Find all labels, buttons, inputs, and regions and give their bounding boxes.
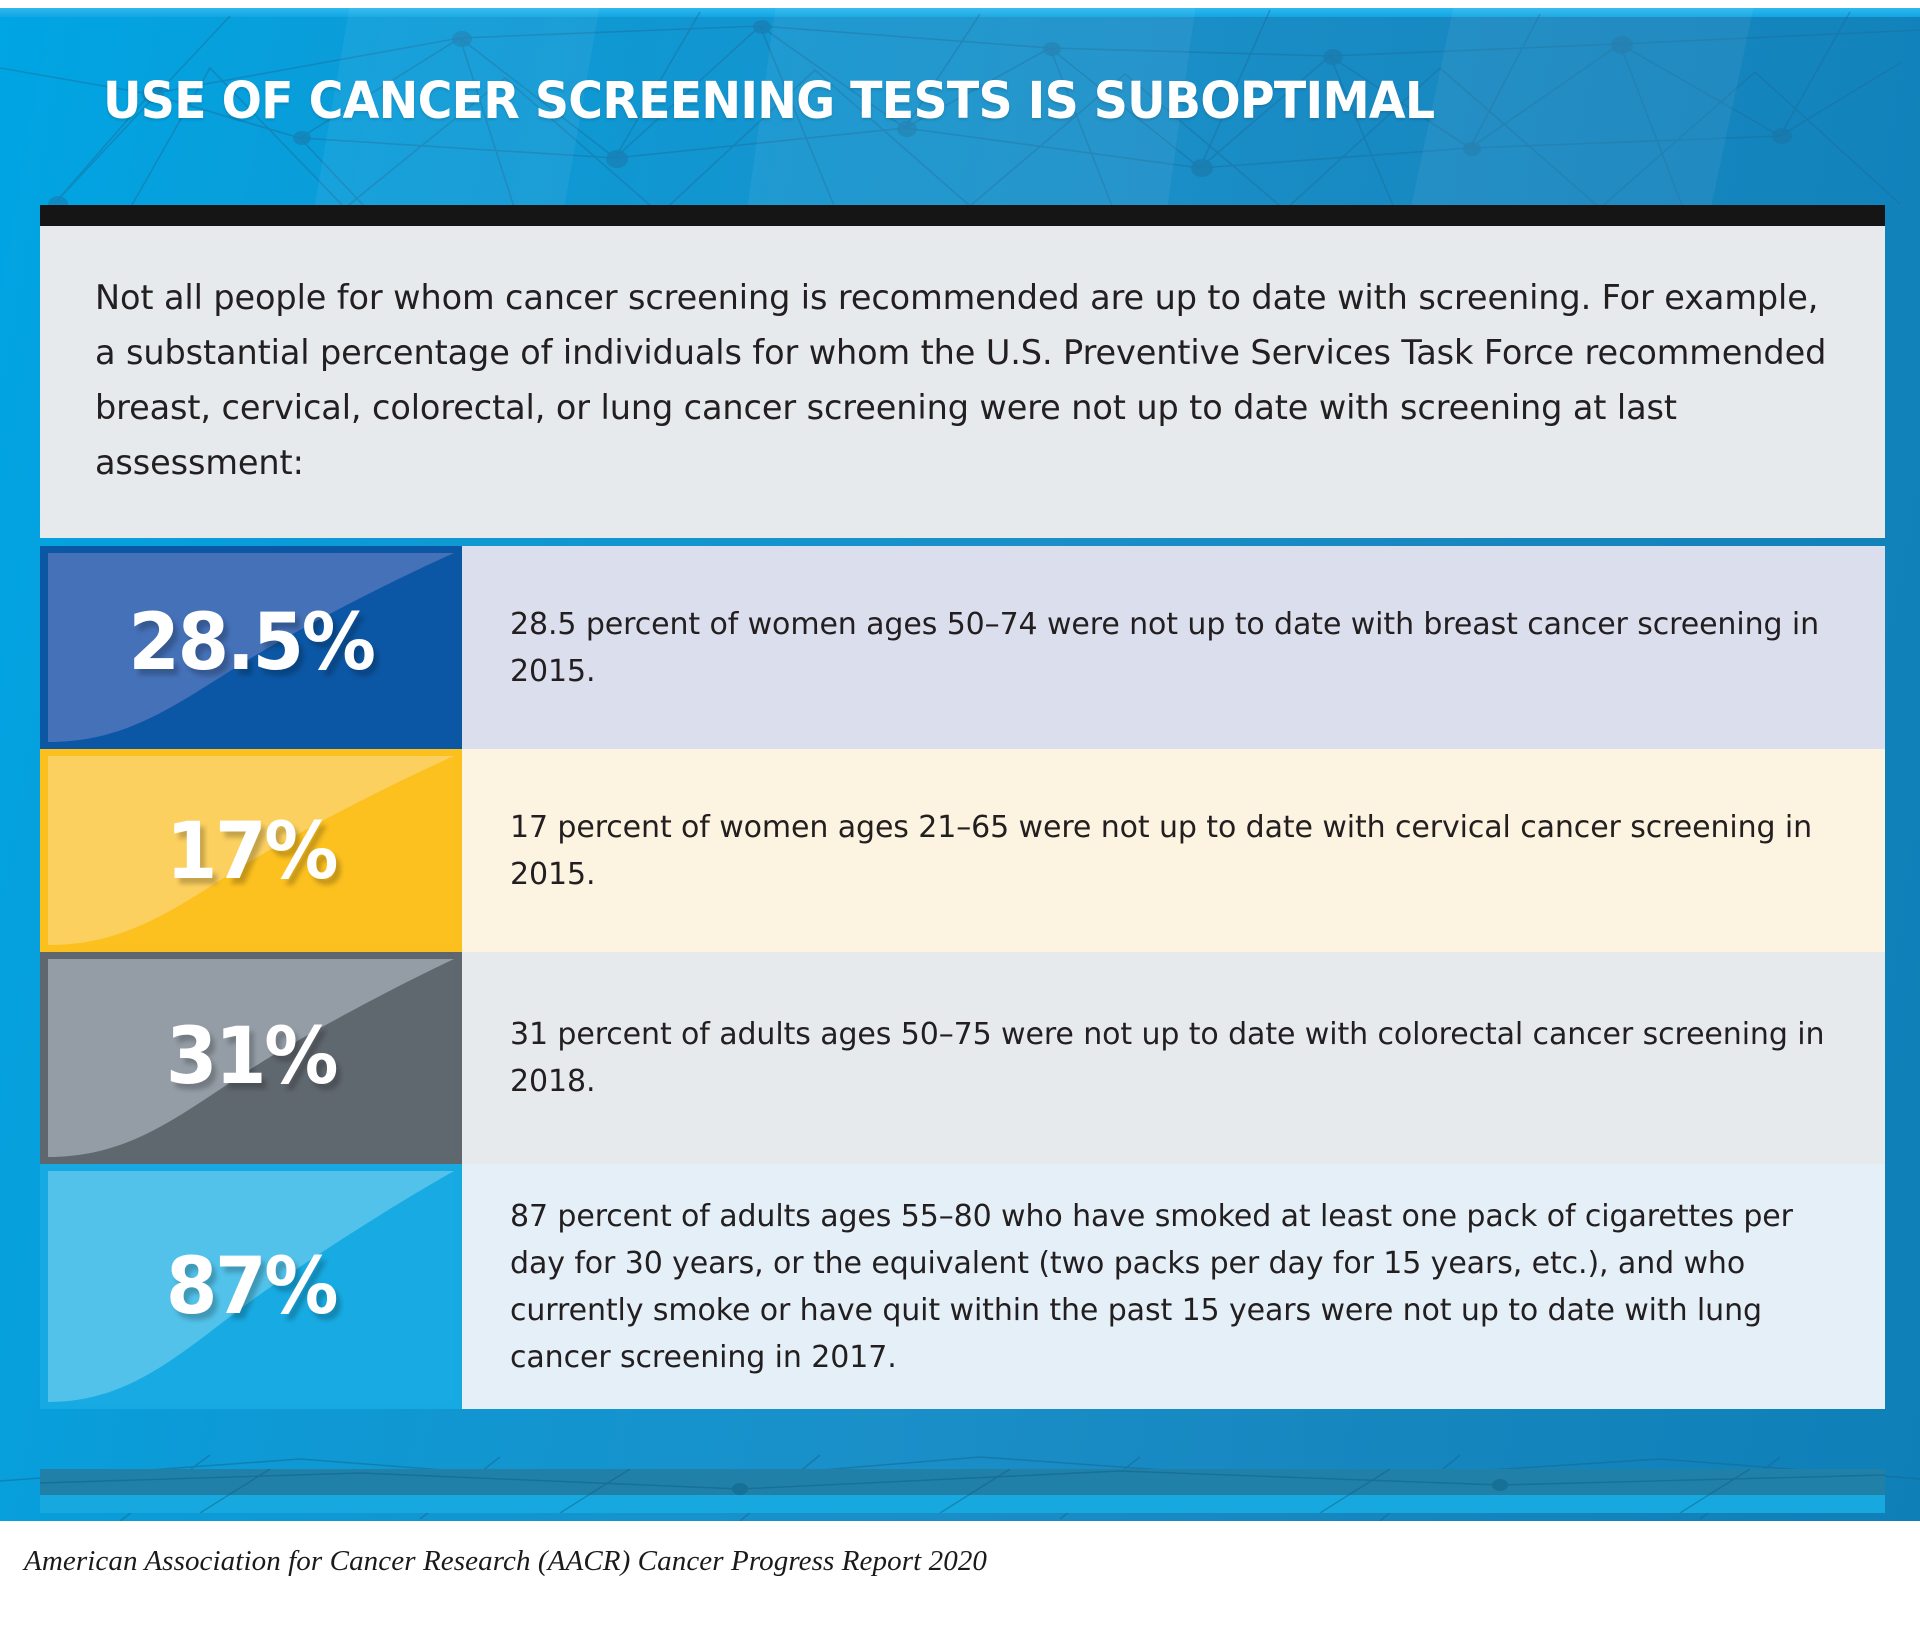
stat-description-panel: 17 percent of women ages 21–65 were not … [462,749,1885,952]
stat-tile: 87% [40,1164,462,1409]
stat-description: 17 percent of women ages 21–65 were not … [462,804,1885,898]
stat-percent: 28.5% [51,604,452,682]
stat-row: 17% 17 percent of women ages 21–65 were … [40,749,1885,952]
stat-description-panel: 28.5 percent of women ages 50–74 were no… [462,546,1885,749]
stat-tile: 31% [40,952,462,1164]
intro-panel: Not all people for whom cancer screening… [40,226,1885,538]
stat-description: 31 percent of adults ages 50–75 were not… [462,1011,1885,1105]
header: USE OF CANCER SCREENING TESTS IS SUBOPTI… [0,0,1920,205]
stat-description-panel: 31 percent of adults ages 50–75 were not… [462,952,1885,1164]
stat-row: 31% 31 percent of adults ages 50–75 were… [40,952,1885,1164]
stat-description: 28.5 percent of women ages 50–74 were no… [462,601,1885,695]
stat-row: 87% 87 percent of adults ages 55–80 who … [40,1164,1885,1409]
stat-percent: 87% [51,1248,452,1326]
page-title: USE OF CANCER SCREENING TESTS IS SUBOPTI… [103,76,1434,127]
source-attribution: American Association for Cancer Research… [24,1545,987,1578]
stat-tile: 28.5% [40,546,462,749]
stat-percent: 31% [51,1018,452,1096]
infographic-poster: USE OF CANCER SCREENING TESTS IS SUBOPTI… [0,0,1920,1630]
bottom-band-pattern-icon [40,1469,1885,1513]
stat-rows: 28.5% 28.5 percent of women ages 50–74 w… [40,546,1885,1409]
stat-description: 87 percent of adults ages 55–80 who have… [462,1193,1885,1381]
header-divider [40,205,1885,226]
stat-percent: 17% [51,813,452,891]
stat-tile: 17% [40,749,462,952]
bottom-band [40,1469,1885,1513]
stat-description-panel: 87 percent of adults ages 55–80 who have… [462,1164,1885,1409]
stat-row: 28.5% 28.5 percent of women ages 50–74 w… [40,546,1885,749]
intro-text: Not all people for whom cancer screening… [95,270,1835,490]
